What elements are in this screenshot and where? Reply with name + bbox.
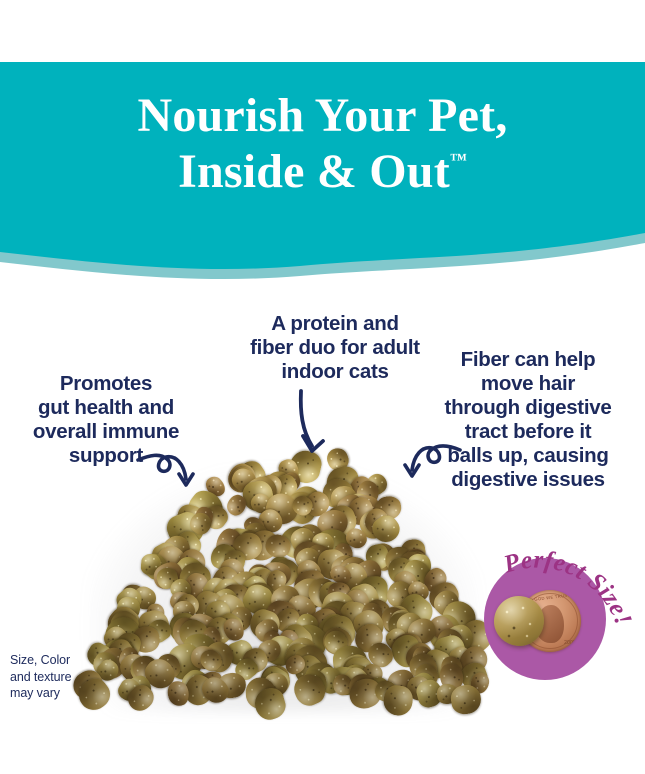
product-feature-graphic: Nourish Your Pet, Inside & Out™ Promotes… [0, 0, 645, 774]
header-banner: Nourish Your Pet, Inside & Out™ [0, 0, 645, 300]
disclaimer-text: Size, Color and texture may vary [10, 652, 130, 702]
curled-arrow-left-down-icon [392, 444, 462, 498]
badge-label: Perfect Size! [474, 524, 642, 680]
curved-arrow-down-icon [292, 388, 336, 464]
badge-label-text: Perfect Size! [500, 546, 637, 629]
perfect-size-badge: IN GOD WE TRUST 2005 Perfect Size! [474, 524, 642, 680]
page-title: Nourish Your Pet, Inside & Out™ [0, 88, 645, 200]
page-title-text: Nourish Your Pet, Inside & Out [137, 89, 507, 198]
callout-center-text: A protein and fiber duo for adult indoor… [228, 312, 442, 384]
trademark-symbol: ™ [450, 150, 467, 169]
badge-label-textpath: Perfect Size! [500, 546, 637, 629]
curled-arrow-right-down-icon [136, 446, 206, 504]
